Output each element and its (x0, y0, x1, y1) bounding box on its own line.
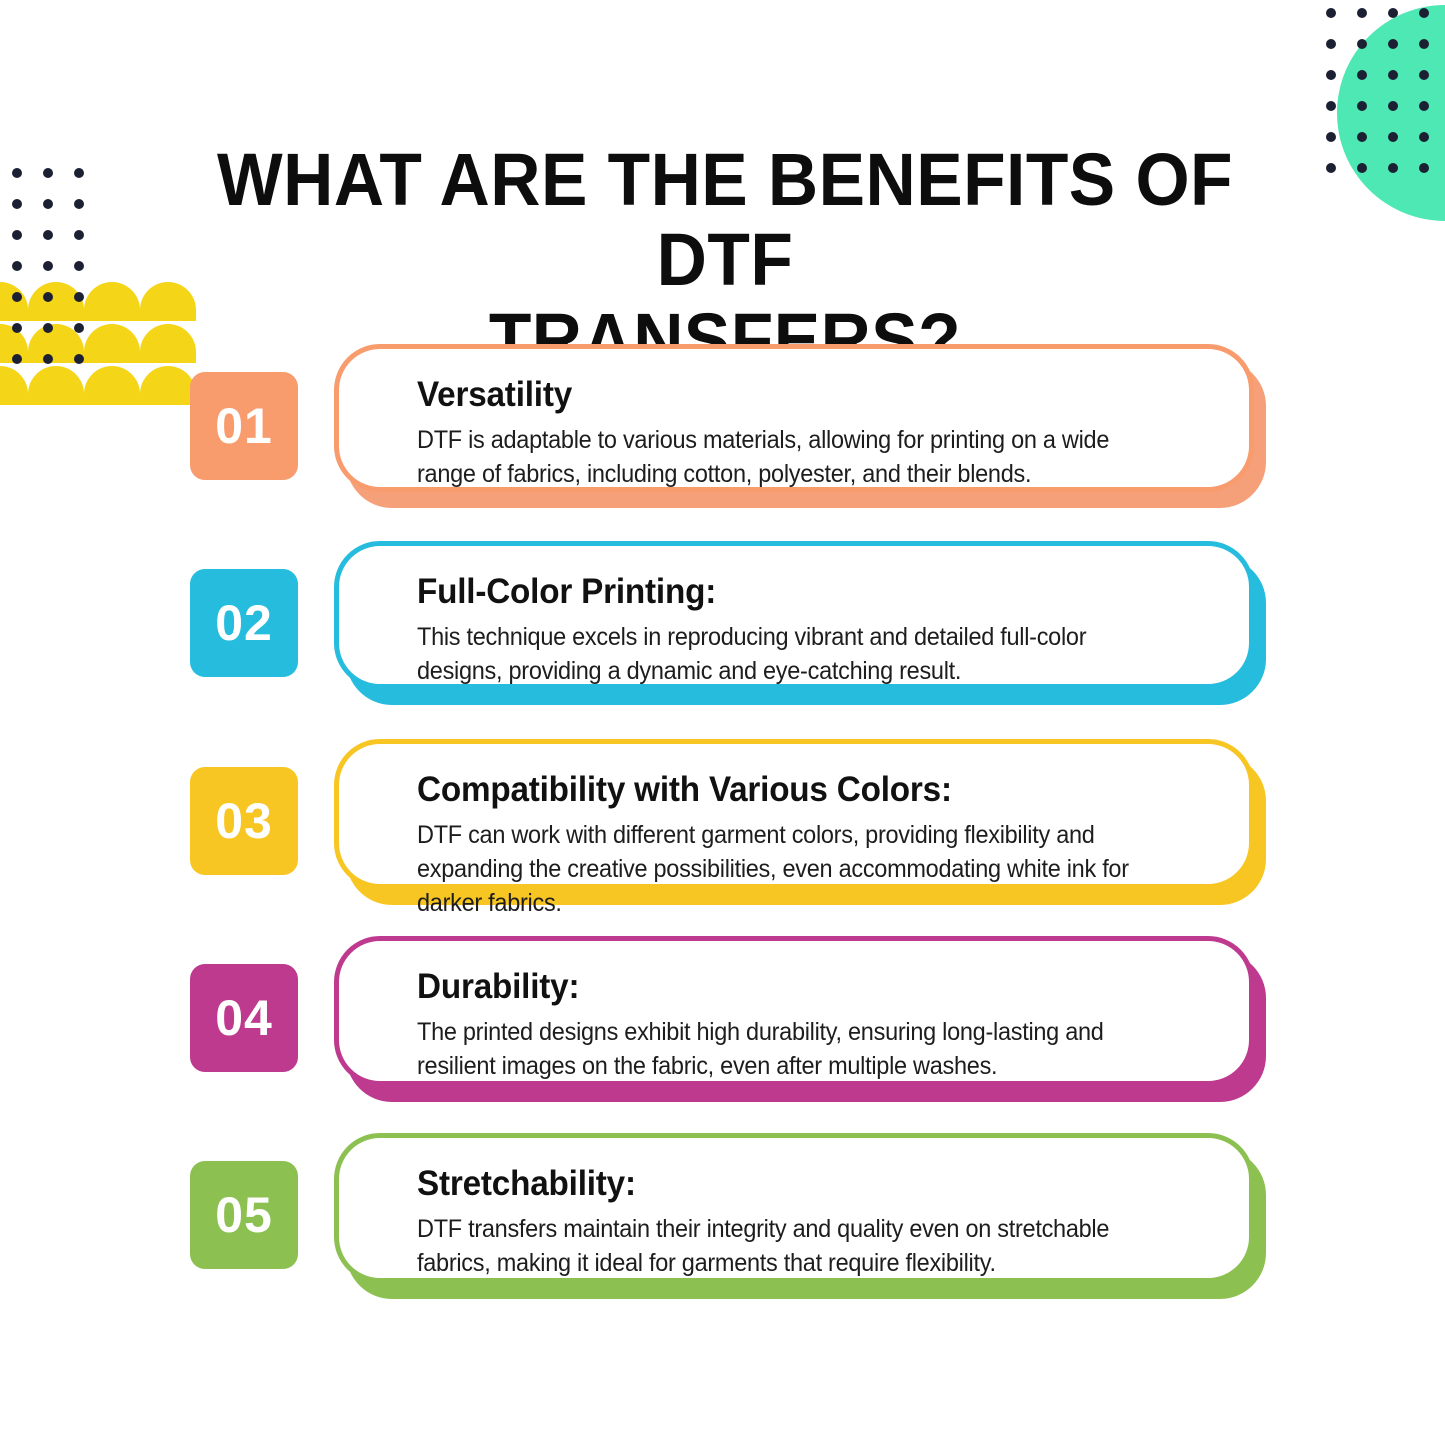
benefit-body-text: DTF transfers maintain their integrity a… (417, 1212, 1161, 1280)
grid-diamond (249, 45, 280, 76)
grid-diamond (1315, 1111, 1346, 1142)
grid-diamond (741, 45, 772, 76)
grid-diamond (577, 1357, 608, 1388)
grid-diamond (1397, 619, 1428, 650)
grid-diamond (331, 701, 362, 732)
grid-diamond (1233, 209, 1264, 240)
decorative-dot (74, 230, 84, 240)
grid-diamond (1151, 1357, 1182, 1388)
grid-diamond (987, 45, 1018, 76)
benefit-card: VersatilityDTF is adaptable to various m… (334, 344, 1254, 492)
benefit-number: 04 (215, 989, 273, 1047)
grid-diamond (1315, 1275, 1346, 1306)
grid-diamond (85, 209, 116, 240)
decorative-dot (12, 168, 22, 178)
grid-diamond (1397, 947, 1428, 978)
benefit-number: 02 (215, 594, 273, 652)
grid-diamond (905, 701, 936, 732)
benefit-number-badge: 02 (190, 569, 298, 677)
grid-diamond (85, 1439, 116, 1445)
grid-diamond (823, 45, 854, 76)
benefit-number-badge: 05 (190, 1161, 298, 1269)
grid-diamond (1315, 865, 1346, 896)
benefit-number-badge: 04 (190, 964, 298, 1072)
grid-diamond (823, 1439, 854, 1445)
benefit-card-body: VersatilityDTF is adaptable to various m… (334, 344, 1254, 492)
benefit-card: Durability:The printed designs exhibit h… (334, 936, 1254, 1086)
grid-diamond (1151, 701, 1182, 732)
grid-diamond (1315, 455, 1346, 486)
benefit-card: Stretchability:DTF transfers maintain th… (334, 1133, 1254, 1283)
decorative-dot (1326, 39, 1336, 49)
grid-diamond (1151, 45, 1182, 76)
benefit-body-text: The printed designs exhibit high durabil… (417, 1015, 1161, 1083)
grid-diamond (249, 537, 280, 568)
grid-diamond (1069, 1357, 1100, 1388)
grid-diamond (823, 1357, 854, 1388)
decorative-dot (43, 261, 53, 271)
grid-diamond (167, 701, 198, 732)
grid-diamond (249, 1111, 280, 1142)
grid-diamond (1397, 373, 1428, 404)
grid-diamond (1315, 1029, 1346, 1060)
decorative-dot (12, 323, 22, 333)
grid-diamond (1397, 865, 1428, 896)
grid-diamond (741, 1357, 772, 1388)
grid-diamond (1315, 1439, 1346, 1445)
decorative-dot (1326, 101, 1336, 111)
benefit-card: Full-Color Printing:This technique excel… (334, 541, 1254, 689)
grid-diamond (1315, 619, 1346, 650)
grid-diamond (1397, 1029, 1428, 1060)
grid-diamond (331, 1439, 362, 1445)
decorative-dot (1388, 132, 1398, 142)
grid-diamond (167, 1439, 198, 1445)
grid-diamond (1233, 1357, 1264, 1388)
grid-diamond (85, 783, 116, 814)
grid-diamond (495, 701, 526, 732)
grid-diamond (1233, 45, 1264, 76)
grid-diamond (577, 701, 608, 732)
benefit-card-body: Full-Color Printing:This technique excel… (334, 541, 1254, 689)
decorative-dot (1419, 101, 1429, 111)
decorative-dot (43, 230, 53, 240)
grid-diamond (249, 1439, 280, 1445)
grid-diamond (1397, 1439, 1428, 1445)
benefit-body-text: This technique excels in reproducing vib… (417, 620, 1161, 688)
grid-diamond (987, 1357, 1018, 1388)
grid-diamond (1315, 291, 1346, 322)
grid-diamond (1397, 1111, 1428, 1142)
decorative-dot (74, 261, 84, 271)
grid-diamond (1397, 1357, 1428, 1388)
decorative-dot (1357, 163, 1367, 173)
benefit-card: Compatibility with Various Colors:DTF ca… (334, 739, 1254, 889)
grid-diamond (1397, 455, 1428, 486)
grid-diamond (1315, 701, 1346, 732)
benefit-card-body: Stretchability:DTF transfers maintain th… (334, 1133, 1254, 1283)
grid-diamond (85, 1357, 116, 1388)
benefit-body-text: DTF can work with different garment colo… (417, 818, 1161, 920)
decorative-dot (74, 323, 84, 333)
decorative-dot (43, 323, 53, 333)
benefit-number: 05 (215, 1186, 273, 1244)
decorative-dot (43, 168, 53, 178)
grid-diamond (1315, 537, 1346, 568)
benefit-body-text: DTF is adaptable to various materials, a… (417, 423, 1161, 491)
grid-diamond (85, 45, 116, 76)
benefit-heading: Full-Color Printing: (417, 570, 1169, 614)
grid-diamond (659, 1439, 690, 1445)
decorative-dot (1357, 101, 1367, 111)
grid-diamond (1315, 1357, 1346, 1388)
grid-diamond (577, 45, 608, 76)
grid-diamond (1233, 1439, 1264, 1445)
grid-diamond (85, 1275, 116, 1306)
grid-diamond (659, 701, 690, 732)
grid-diamond (1315, 209, 1346, 240)
grid-diamond (823, 701, 854, 732)
grid-diamond (1069, 45, 1100, 76)
grid-diamond (1397, 783, 1428, 814)
decorative-dot (1388, 8, 1398, 18)
grid-diamond (1233, 127, 1264, 158)
grid-diamond (167, 1275, 198, 1306)
grid-diamond (331, 1357, 362, 1388)
grid-diamond (1397, 291, 1428, 322)
decorative-dot (1388, 39, 1398, 49)
decorative-dot (1326, 8, 1336, 18)
grid-diamond (741, 1439, 772, 1445)
decorative-dot (1357, 39, 1367, 49)
grid-diamond (85, 1193, 116, 1224)
grid-diamond (1315, 1193, 1346, 1224)
decorative-dot (43, 354, 53, 364)
grid-diamond (85, 947, 116, 978)
grid-diamond (167, 1357, 198, 1388)
benefit-card-body: Compatibility with Various Colors:DTF ca… (334, 739, 1254, 889)
decorative-dot (12, 292, 22, 302)
grid-diamond (1397, 701, 1428, 732)
decorative-dot (43, 292, 53, 302)
grid-diamond (577, 1439, 608, 1445)
decorative-dot (12, 354, 22, 364)
decorative-dot (1326, 70, 1336, 80)
decorative-dot (1357, 70, 1367, 80)
decorative-dot (74, 292, 84, 302)
decorative-dot (43, 199, 53, 209)
grid-diamond (1397, 1193, 1428, 1224)
grid-diamond (659, 1357, 690, 1388)
grid-diamond (413, 1439, 444, 1445)
benefit-heading: Compatibility with Various Colors: (417, 768, 1169, 812)
decorative-dot (1419, 8, 1429, 18)
grid-diamond (1151, 1439, 1182, 1445)
grid-diamond (1315, 373, 1346, 404)
grid-diamond (85, 127, 116, 158)
decorative-dot (1388, 101, 1398, 111)
grid-diamond (331, 45, 362, 76)
grid-diamond (905, 1439, 936, 1445)
grid-diamond (85, 1111, 116, 1142)
grid-diamond (167, 1111, 198, 1142)
grid-diamond (495, 1439, 526, 1445)
decorative-dot (1326, 163, 1336, 173)
benefit-number-badge: 03 (190, 767, 298, 875)
decorative-dot (1388, 163, 1398, 173)
grid-diamond (167, 127, 198, 158)
decorative-dot (1357, 132, 1367, 142)
grid-diamond (741, 701, 772, 732)
grid-diamond (85, 619, 116, 650)
grid-diamond (495, 45, 526, 76)
decorative-dot (1419, 163, 1429, 173)
decorative-dot (12, 230, 22, 240)
grid-diamond (249, 1275, 280, 1306)
grid-diamond (905, 1357, 936, 1388)
grid-diamond (905, 45, 936, 76)
benefit-heading: Versatility (417, 373, 1169, 417)
grid-diamond (987, 701, 1018, 732)
grid-diamond (85, 537, 116, 568)
grid-diamond (85, 701, 116, 732)
decorative-dot (1326, 132, 1336, 142)
grid-diamond (167, 537, 198, 568)
grid-diamond (1315, 783, 1346, 814)
benefit-card-body: Durability:The printed designs exhibit h… (334, 936, 1254, 1086)
grid-diamond (1233, 701, 1264, 732)
grid-diamond (1069, 701, 1100, 732)
benefit-number: 03 (215, 792, 273, 850)
grid-diamond (167, 45, 198, 76)
grid-diamond (413, 701, 444, 732)
benefit-number-badge: 01 (190, 372, 298, 480)
decorative-dot (74, 199, 84, 209)
grid-diamond (659, 45, 690, 76)
grid-diamond (85, 455, 116, 486)
decorative-dot (12, 261, 22, 271)
grid-diamond (987, 1439, 1018, 1445)
decorative-dot (1419, 70, 1429, 80)
grid-diamond (167, 209, 198, 240)
grid-diamond (85, 865, 116, 896)
grid-diamond (85, 1029, 116, 1060)
grid-diamond (1069, 1439, 1100, 1445)
grid-diamond (495, 1357, 526, 1388)
grid-diamond (249, 1357, 280, 1388)
decorative-dot (74, 354, 84, 364)
grid-diamond (249, 701, 280, 732)
decorative-dot (1357, 8, 1367, 18)
decorative-dot (1388, 70, 1398, 80)
grid-diamond (413, 1357, 444, 1388)
grid-diamond (413, 45, 444, 76)
decorative-dot (12, 199, 22, 209)
benefit-number: 01 (215, 397, 273, 455)
decorative-dot (1419, 39, 1429, 49)
grid-diamond (1233, 291, 1264, 322)
grid-diamond (1397, 537, 1428, 568)
decorative-dot (74, 168, 84, 178)
benefit-heading: Durability: (417, 965, 1169, 1009)
decorative-dot (1419, 132, 1429, 142)
benefit-heading: Stretchability: (417, 1162, 1169, 1206)
grid-diamond (1315, 947, 1346, 978)
grid-diamond (1397, 1275, 1428, 1306)
